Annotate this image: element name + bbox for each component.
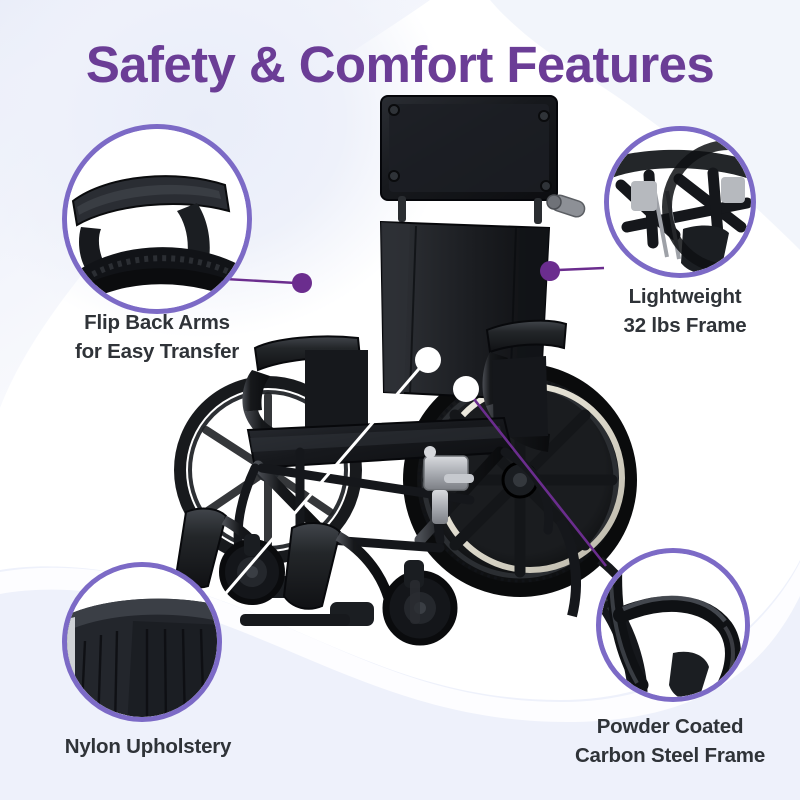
caster-right (386, 560, 454, 642)
callout-circle-lightweight-frame[interactable] (604, 126, 756, 278)
callout-label-line2: Carbon Steel Frame (540, 741, 800, 770)
callout-inset-armrest (67, 129, 247, 309)
push-handle (547, 193, 587, 219)
callout-label-nylon-upholstery: Nylon Upholstery (8, 732, 288, 761)
callout-inset-upholstery (67, 567, 217, 717)
callout-inset-frame (609, 131, 751, 273)
callout-label-line2: 32 lbs Frame (590, 311, 780, 340)
callout-label-lightweight-frame: Lightweight 32 lbs Frame (590, 282, 780, 340)
callout-label-powder-coated-frame: Powder Coated Carbon Steel Frame (540, 712, 800, 770)
calf-strap (240, 614, 350, 626)
callout-label-line1: Powder Coated (540, 712, 800, 741)
callout-label-line1: Flip Back Arms (22, 308, 292, 337)
headrest (381, 96, 557, 224)
callout-label-line2: for Easy Transfer (22, 337, 292, 366)
side-guard-left (305, 350, 368, 432)
callout-circle-powder-coated-frame[interactable] (596, 548, 750, 702)
callout-label-line1: Nylon Upholstery (8, 732, 288, 761)
callout-circle-nylon-upholstery[interactable] (62, 562, 222, 722)
callout-label-line1: Lightweight (590, 282, 780, 311)
callout-circle-flip-back-arms[interactable] (62, 124, 252, 314)
callout-label-flip-back-arms: Flip Back Arms for Easy Transfer (22, 308, 292, 366)
callout-inset-powder-coat (601, 553, 745, 697)
infographic-canvas: Safety & Comfort Features (0, 0, 800, 800)
